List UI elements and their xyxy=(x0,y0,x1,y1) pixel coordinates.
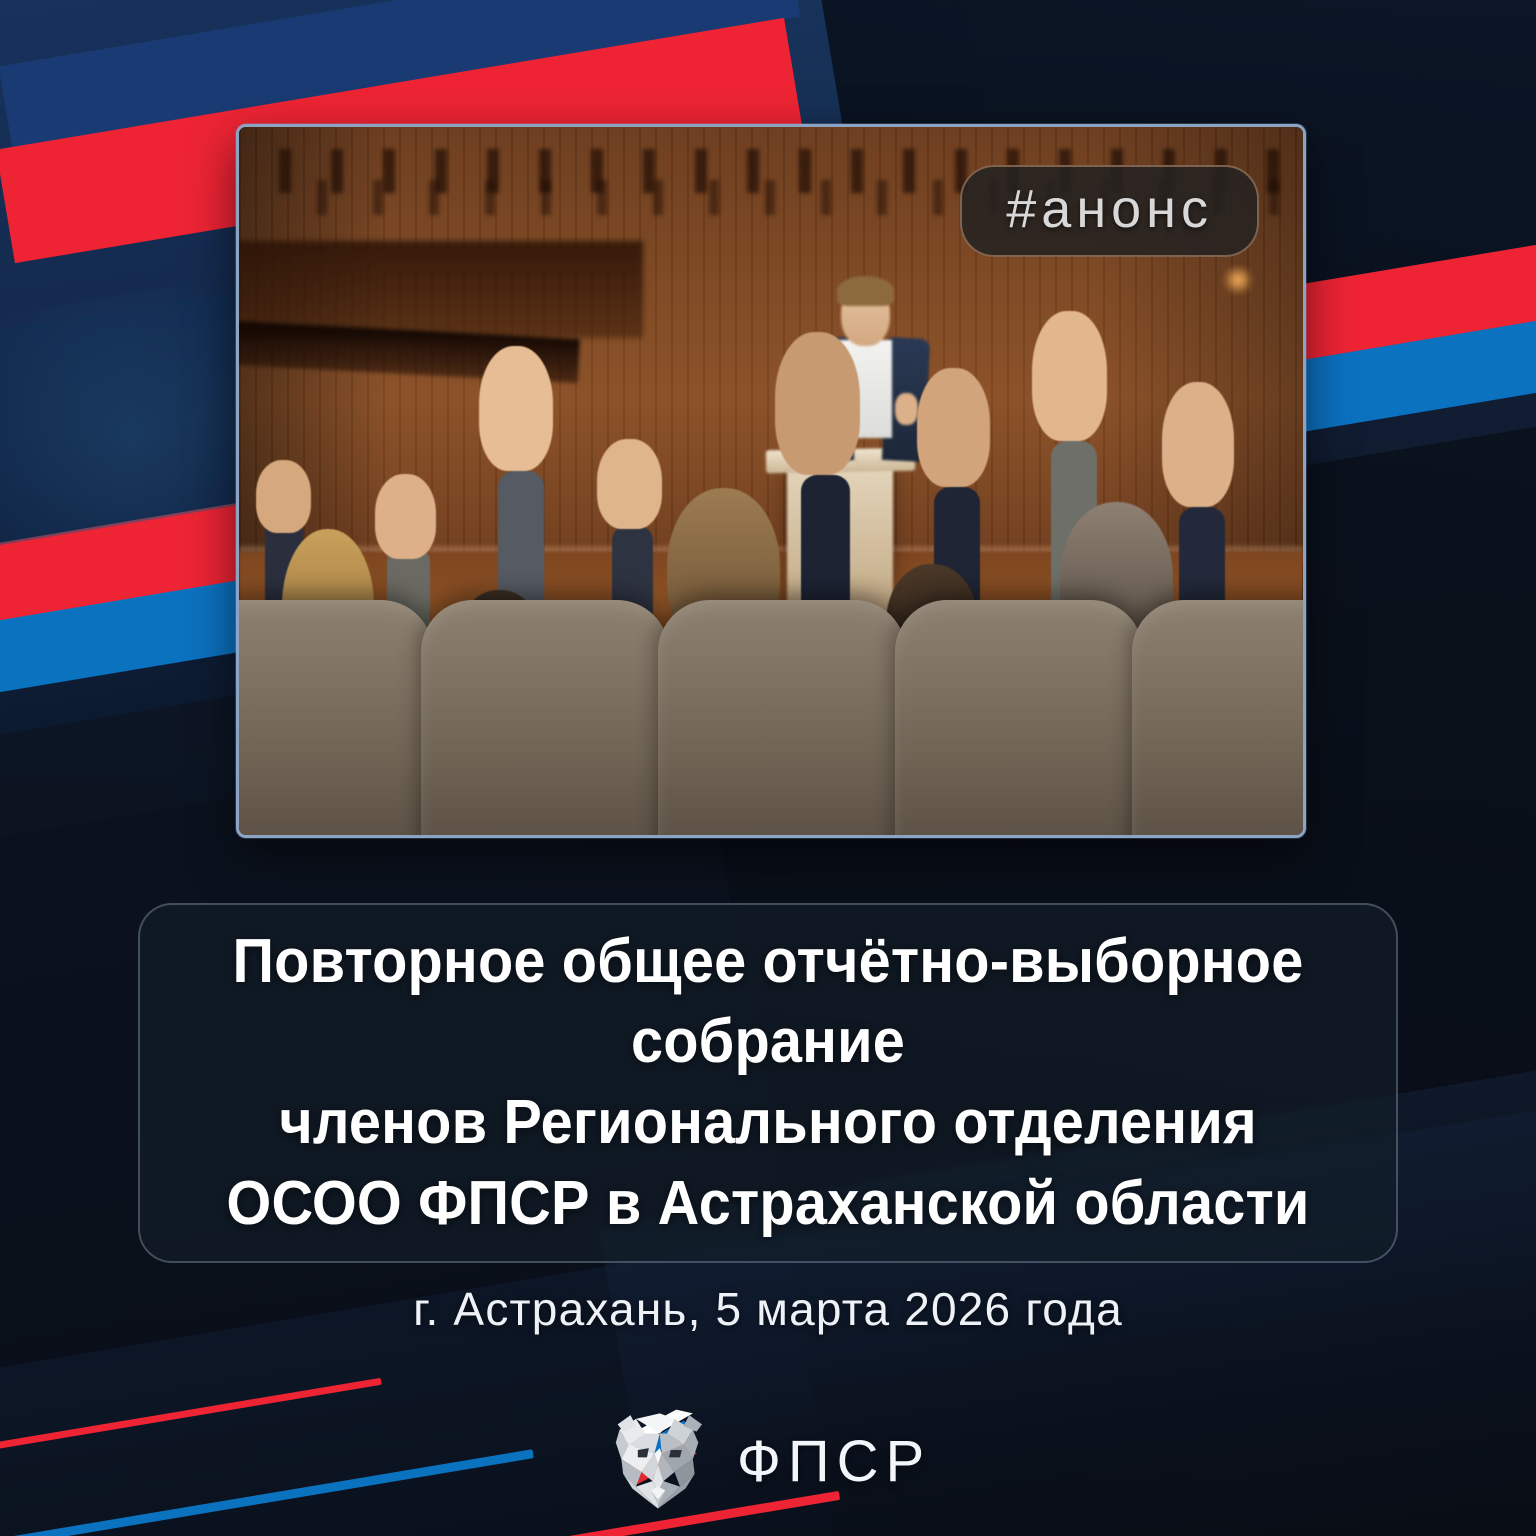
announce-badge: #анонс xyxy=(960,165,1259,257)
logo-wordmark: ФПСР xyxy=(737,1428,931,1495)
fpsr-logo: ФПСР xyxy=(605,1402,931,1520)
title-line-3: ОСОО ФПСР в Астраханской области xyxy=(210,1164,1326,1245)
hero-photo-card: #анонс xyxy=(236,124,1306,838)
hand xyxy=(775,332,860,475)
announcement-poster: #анонс Повторное общее отчётно-выборное … xyxy=(0,0,1536,1536)
hand xyxy=(1162,382,1235,507)
page-title: Повторное общее отчётно-выборное собрани… xyxy=(184,922,1352,1244)
hand xyxy=(479,346,554,471)
seat-row xyxy=(239,623,1303,835)
title-line-2: членов Регионального отделения xyxy=(210,1083,1326,1164)
bear-head-tricolor-svg xyxy=(605,1402,715,1520)
wall-lamp-glow xyxy=(1221,267,1255,293)
hand xyxy=(917,368,990,487)
event-date-location: г. Астрахань, 5 марта 2026 года xyxy=(0,1282,1536,1336)
wall-panel-left xyxy=(239,241,643,338)
seat xyxy=(1132,600,1303,835)
speaker-hair xyxy=(837,276,893,306)
seat xyxy=(895,600,1143,835)
seat xyxy=(239,600,433,835)
title-line-1: Повторное общее отчётно-выборное собрани… xyxy=(210,922,1326,1083)
hand xyxy=(1032,311,1107,441)
title-panel: Повторное общее отчётно-выборное собрани… xyxy=(138,903,1398,1263)
seat xyxy=(658,600,906,835)
bear-head-icon xyxy=(605,1402,715,1520)
seat xyxy=(421,600,669,835)
